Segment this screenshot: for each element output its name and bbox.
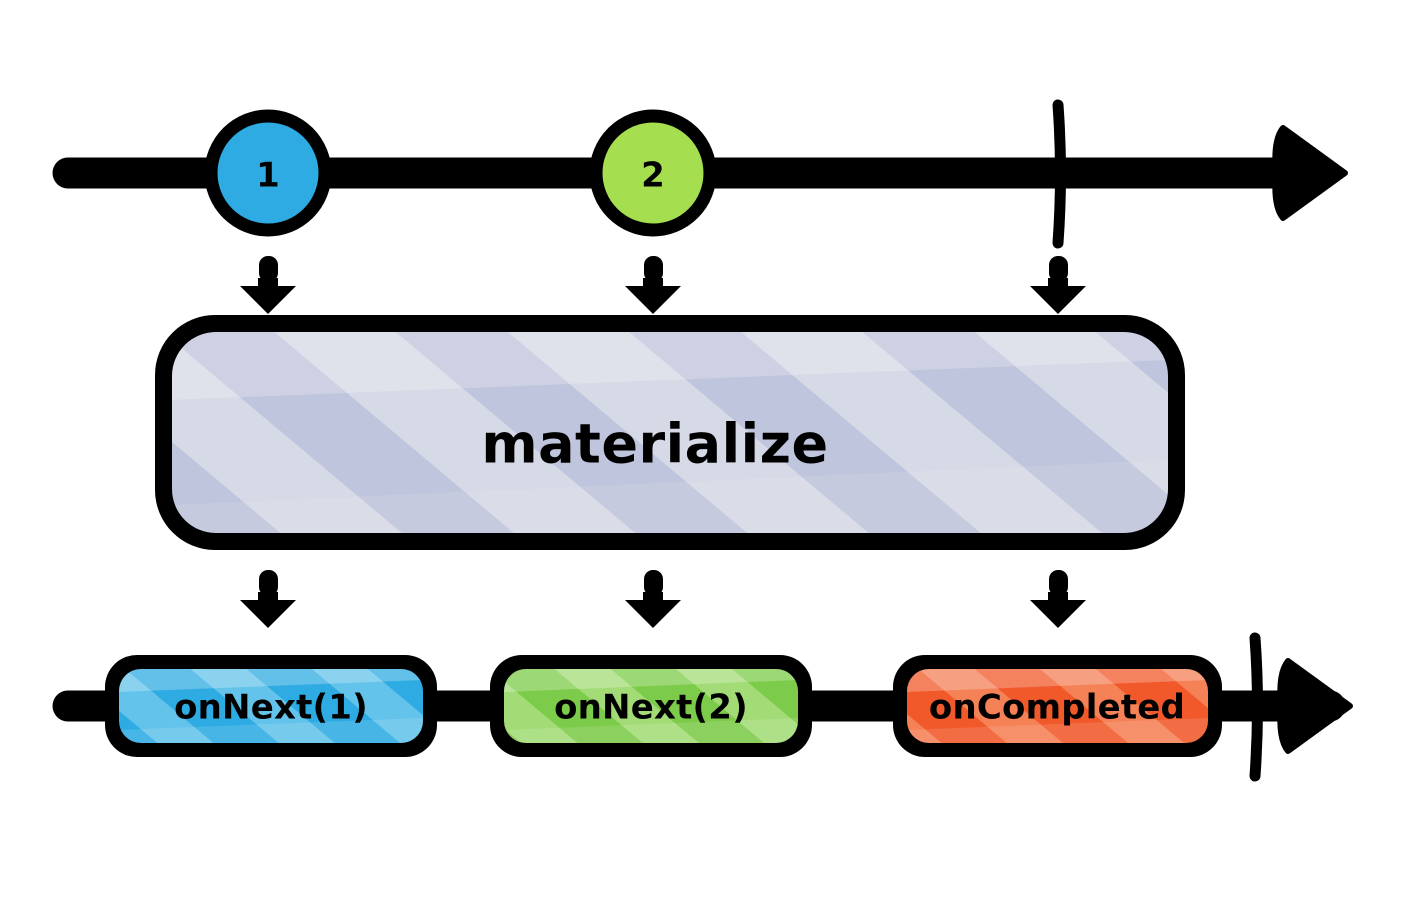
result-marble-1[interactable]: onNext(1) [105,655,437,757]
output-connectors [240,570,1086,628]
source-marble-2[interactable]: 2 [596,116,710,230]
source-completion-bar [1058,105,1061,243]
source-marble-1[interactable]: 1 [211,116,325,230]
source-timeline: 1 2 [68,105,1345,243]
result-marble-3[interactable]: onCompleted [893,655,1222,757]
result-marble-2[interactable]: onNext(2) [490,655,812,757]
connector-arrow-in-3 [1030,256,1086,314]
connector-arrow-in-1 [240,256,296,314]
result-timeline-arrowhead [1280,661,1350,751]
operator-box-label: materialize [481,413,828,476]
result-completion-bar [1255,638,1258,776]
result-marble-2-label: onNext(2) [554,688,748,728]
source-timeline-arrowhead [1275,128,1345,218]
result-timeline: onNext(1) onNext(2) onCo [68,638,1350,776]
operator-box[interactable]: materialize [155,315,1185,550]
marble-diagram: 1 2 [0,0,1401,901]
connector-arrow-in-2 [625,256,681,314]
connector-arrow-out-2 [625,570,681,628]
connector-arrow-out-3 [1030,570,1086,628]
result-marble-3-label: onCompleted [929,688,1185,728]
source-marble-2-label: 2 [641,156,665,196]
result-marble-1-label: onNext(1) [174,688,368,728]
marble-diagram-canvas: 1 2 [0,0,1401,901]
input-connectors [240,256,1086,314]
source-marble-1-label: 1 [256,156,280,196]
connector-arrow-out-1 [240,570,296,628]
